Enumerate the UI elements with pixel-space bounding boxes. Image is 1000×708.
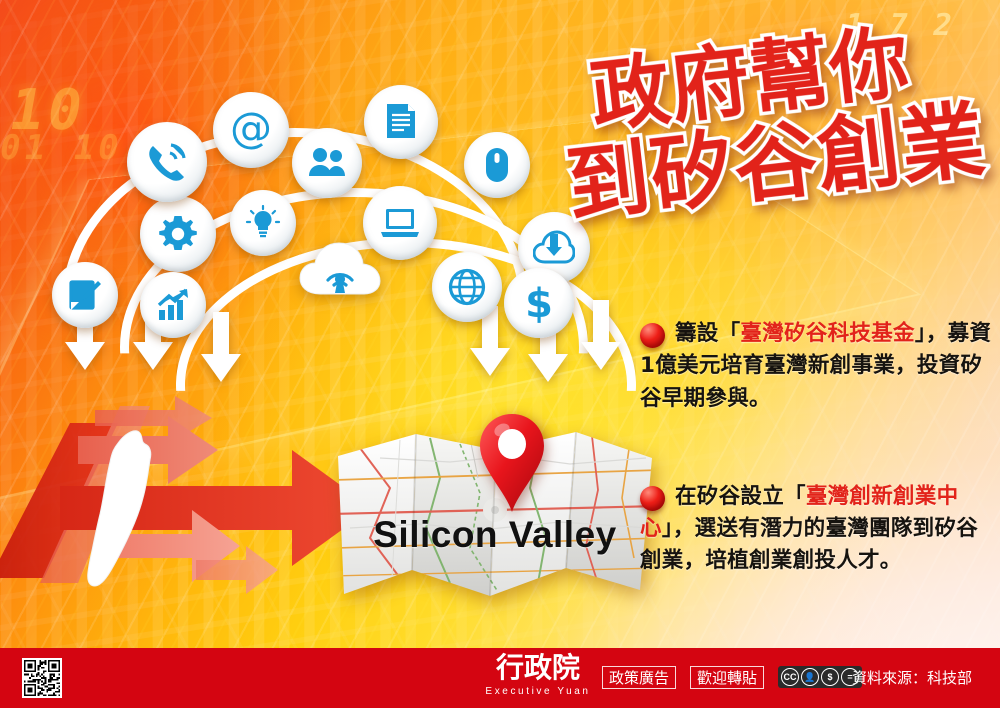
red-sphere-bullet [640, 486, 665, 511]
bullet-seg: 籌設「 [675, 321, 740, 346]
gear-icon[interactable] [140, 196, 216, 272]
dollar-sign-icon[interactable]: $ [504, 268, 574, 338]
logo-chinese: 行政院 [480, 654, 596, 682]
at-sign-icon[interactable]: @ [213, 92, 289, 168]
svg-text:@: @ [230, 107, 272, 152]
laptop-icon[interactable] [363, 186, 437, 260]
source-text: 資料來源：科技部 [852, 667, 972, 688]
phone-call-icon[interactable] [127, 122, 207, 202]
down-arrow-icon [198, 312, 244, 384]
map-label: Silicon Valley [330, 514, 660, 556]
bullet-seg: 在矽谷設立「 [675, 484, 806, 509]
cloud-wifi-icon[interactable] [298, 238, 382, 305]
svg-text:$: $ [525, 282, 553, 324]
silicon-valley-map: Silicon Valley [330, 418, 660, 608]
computer-mouse-icon[interactable] [464, 132, 530, 198]
location-pin-icon [476, 412, 548, 516]
cc-mark-cc: CC [781, 668, 799, 686]
badge-policy-ad: 政策廣告 [602, 666, 676, 689]
cc-mark-by: 👤 [801, 668, 819, 686]
badge-share-welcome: 歡迎轉貼 [690, 666, 764, 689]
logo-english: Executive Yuan [480, 686, 596, 697]
executive-yuan-logo: 行政院 Executive Yuan [480, 654, 596, 697]
edit-note-icon[interactable] [52, 262, 118, 328]
bullet-text-2: 在矽谷設立「臺灣創新創業中心」，選送有潛力的臺灣團隊到矽谷創業，培植創業創投人才… [640, 481, 992, 578]
bullet-list: 籌設「臺灣矽谷科技基金」，募資1億美元培育臺灣新創事業，投資矽谷早期參與。 在矽… [640, 318, 992, 598]
bullet-text-1: 籌設「臺灣矽谷科技基金」，募資1億美元培育臺灣新創事業，投資矽谷早期參與。 [640, 318, 992, 415]
people-group-icon[interactable] [292, 128, 362, 198]
down-arrow-icon [578, 300, 624, 372]
creative-commons-badge: CC 👤 $ = [778, 666, 862, 688]
globe-icon[interactable] [432, 252, 502, 322]
bullet-seg-highlight: 臺灣矽谷科技基金 [740, 321, 914, 346]
lightbulb-icon[interactable] [230, 190, 296, 256]
document-icon[interactable] [364, 85, 438, 159]
chart-growth-icon[interactable] [140, 272, 206, 338]
poster-canvas: 10 01 10 11 1 7 2 政府幫你 到矽谷創業 [0, 0, 1000, 708]
bullet-item: 在矽谷設立「臺灣創新創業中心」，選送有潛力的臺灣團隊到矽谷創業，培植創業創投人才… [640, 481, 992, 578]
red-sphere-bullet [640, 323, 665, 348]
footer-bar: 行政院 Executive Yuan 政策廣告 歡迎轉貼 CC 👤 $ = 資料… [0, 648, 1000, 708]
qr-code[interactable] [22, 658, 62, 698]
cc-mark-nc: $ [821, 668, 839, 686]
bullet-item: 籌設「臺灣矽谷科技基金」，募資1億美元培育臺灣新創事業，投資矽谷早期參與。 [640, 318, 992, 415]
bullet-seg: 」，選送有潛力的臺灣團隊到矽谷創業，培植創業創投人才。 [640, 516, 978, 573]
